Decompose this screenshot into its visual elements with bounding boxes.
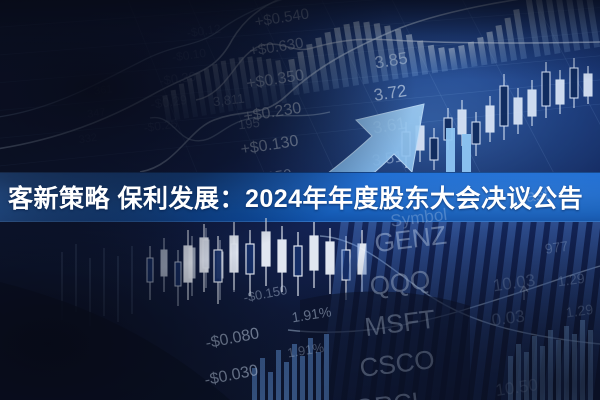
stock-market-banner-image: -$0.12 -$0.10 -$0.30 -$0.29 -$0.25 361 3… bbox=[0, 0, 600, 400]
page-title: 客新策略 保利发展：2024年年度股东大会决议公告 bbox=[0, 179, 583, 215]
headline-banner: 客新策略 保利发展：2024年年度股东大会决议公告 bbox=[0, 172, 600, 222]
